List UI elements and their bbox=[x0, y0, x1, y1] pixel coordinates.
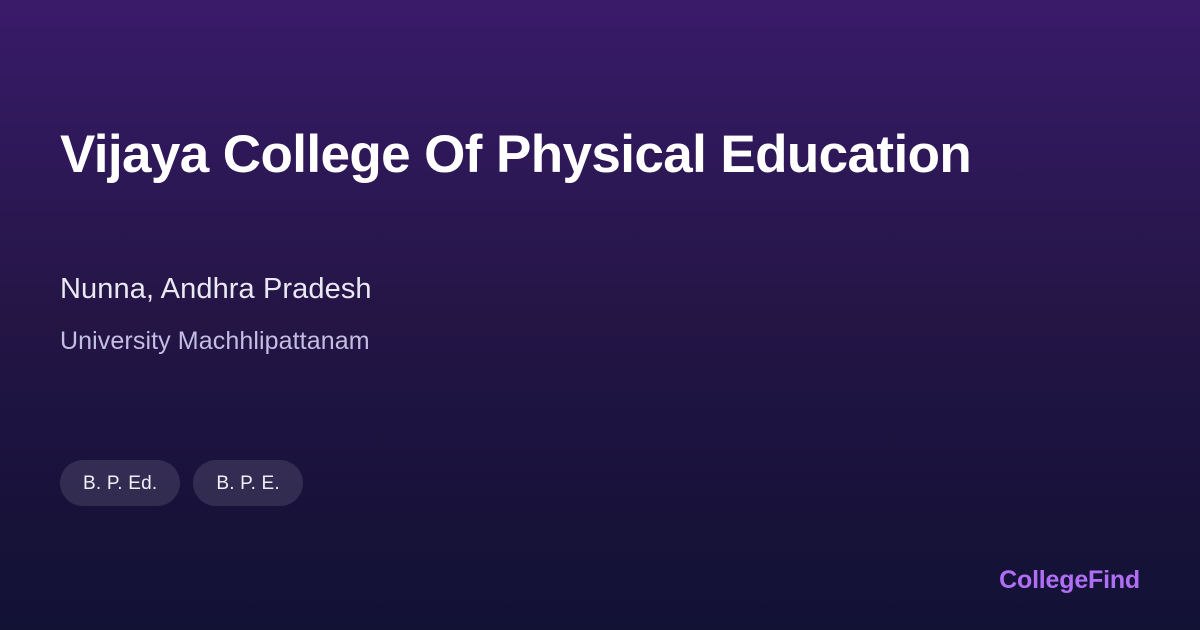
brand-logo-text: CollegeFind bbox=[999, 568, 1140, 593]
course-tag[interactable]: B. P. E. bbox=[193, 460, 303, 506]
course-tag-list: B. P. Ed. B. P. E. bbox=[60, 460, 303, 506]
page-title: Vijaya College Of Physical Education bbox=[60, 125, 971, 184]
college-location: Nunna, Andhra Pradesh bbox=[60, 272, 372, 307]
card-content: Vijaya College Of Physical Education Nun… bbox=[60, 0, 1140, 630]
og-share-card: Vijaya College Of Physical Education Nun… bbox=[0, 0, 1200, 630]
course-tag[interactable]: B. P. Ed. bbox=[60, 460, 180, 506]
affiliated-university: University Machhlipattanam bbox=[60, 326, 370, 356]
